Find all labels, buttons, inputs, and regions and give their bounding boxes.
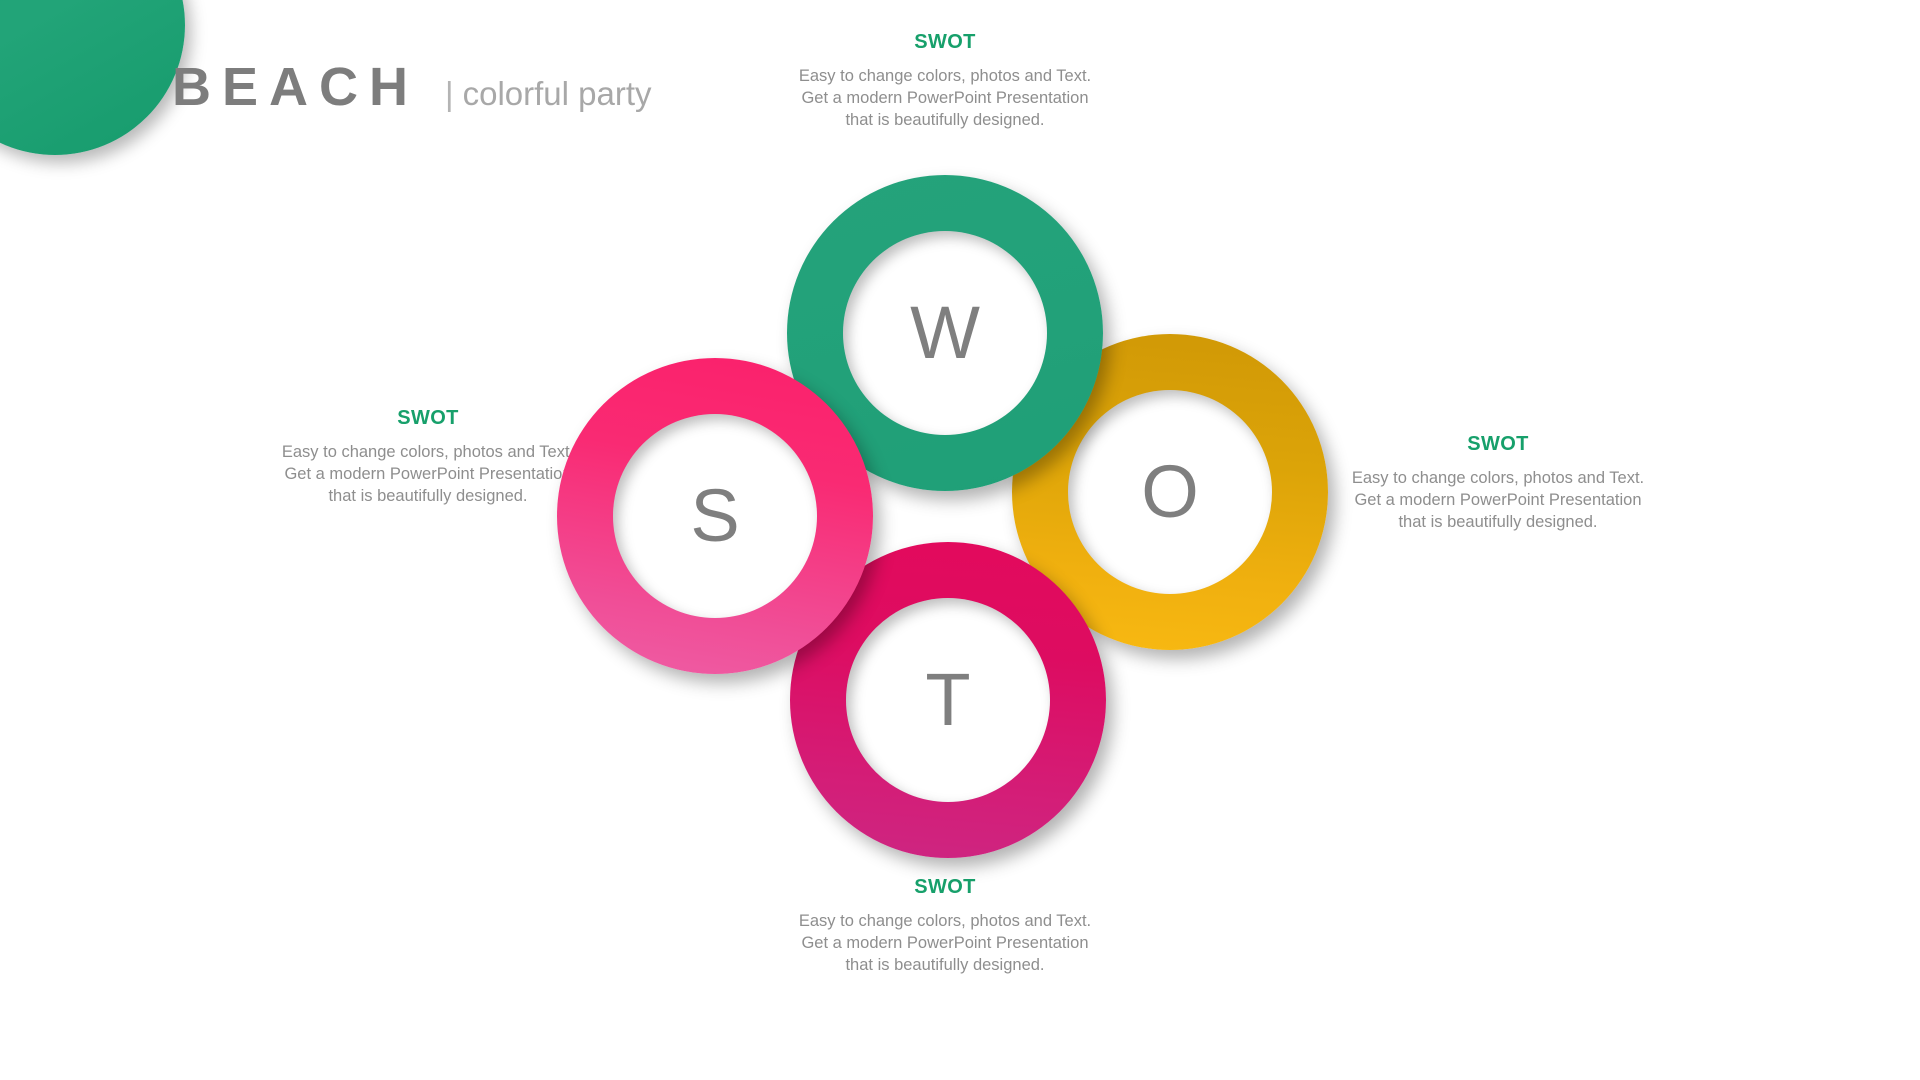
swot-body-bottom: Easy to change colors, photos and Text. … <box>795 911 1095 976</box>
ring-hole-strengths: S <box>613 414 817 618</box>
swot-title-left: SWOT <box>278 408 578 428</box>
swot-title-bottom: SWOT <box>795 877 1095 897</box>
swot-title-right: SWOT <box>1348 434 1648 454</box>
swot-text-block-right: SWOT Easy to change colors, photos and T… <box>1348 434 1648 533</box>
ring-letter-s: S <box>690 479 739 553</box>
swot-body-right: Easy to change colors, photos and Text. … <box>1348 468 1648 533</box>
ring-hole-opportunities: O <box>1068 390 1272 594</box>
ring-letter-t: T <box>925 663 970 737</box>
swot-text-block-top: SWOT Easy to change colors, photos and T… <box>795 32 1095 131</box>
ring-hole-weaknesses: W <box>843 231 1047 435</box>
swot-ring-strengths[interactable]: S <box>557 358 873 674</box>
ring-hole-threats: T <box>846 598 1050 802</box>
swot-body-top: Easy to change colors, photos and Text. … <box>795 66 1095 131</box>
swot-body-left: Easy to change colors, photos and Text. … <box>278 442 578 507</box>
ring-letter-o: O <box>1141 455 1199 529</box>
swot-text-block-bottom: SWOT Easy to change colors, photos and T… <box>795 877 1095 976</box>
swot-text-block-left: SWOT Easy to change colors, photos and T… <box>278 408 578 507</box>
ring-letter-w: W <box>910 296 980 370</box>
swot-title-top: SWOT <box>795 32 1095 52</box>
